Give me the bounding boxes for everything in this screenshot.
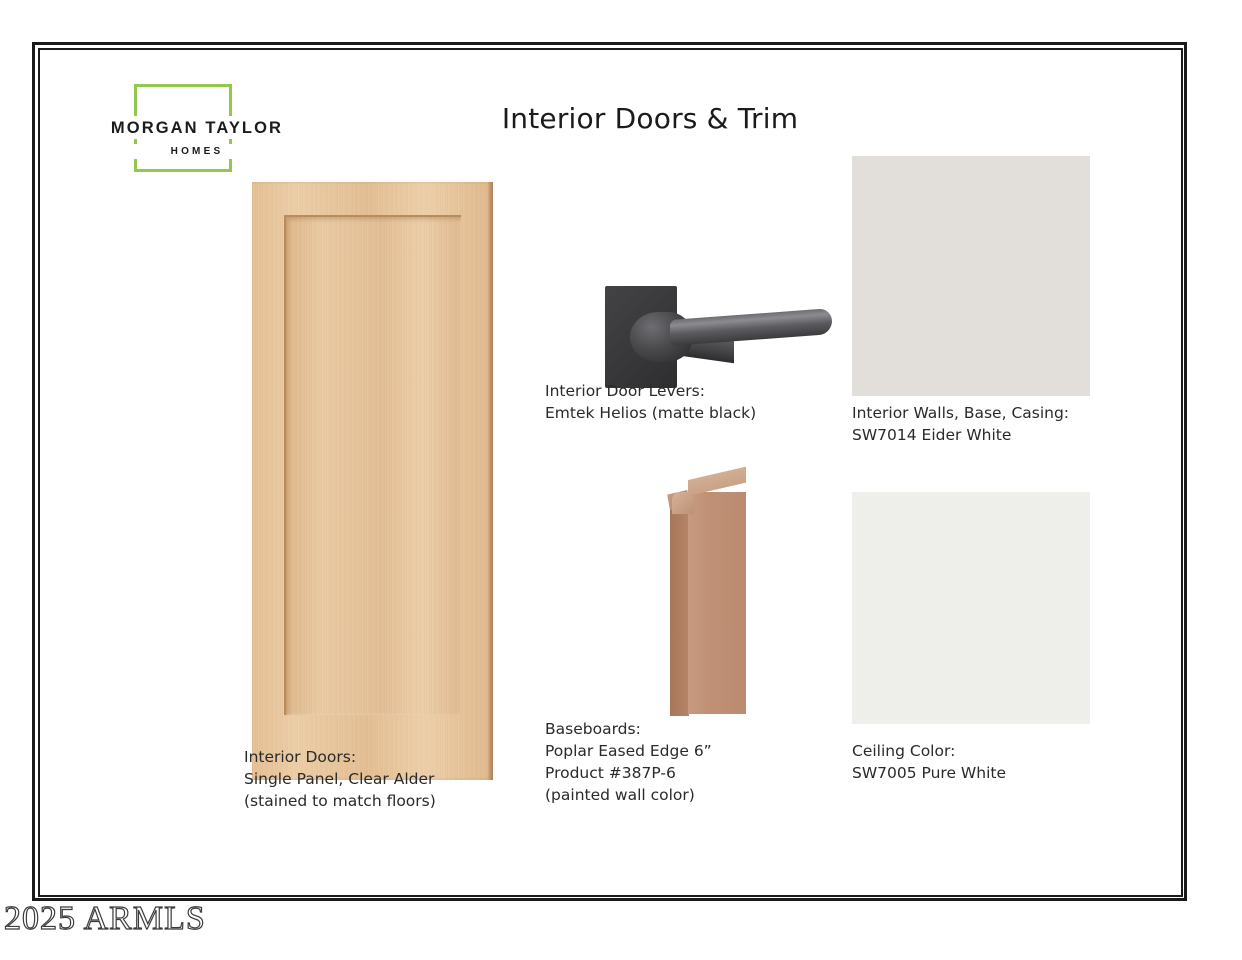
interior-doors-caption: Interior Doors: Single Panel, Clear Alde… — [244, 746, 524, 812]
page-title: Interior Doors & Trim — [370, 102, 930, 135]
logo-wordmark: MORGAN TAYLOR — [102, 116, 292, 139]
baseboard-front-face — [688, 492, 746, 714]
door-levers-caption: Interior Door Levers: Emtek Helios (matt… — [545, 380, 835, 424]
lever-handle-bar — [670, 308, 832, 346]
interior-door-image — [252, 182, 493, 780]
ceiling-color-caption: Ceiling Color: SW7005 Pure White — [852, 740, 1152, 784]
spec-sheet: MORGAN TAYLOR HOMES Interior Doors & Tri… — [40, 50, 1181, 895]
baseboard-image — [652, 468, 772, 728]
watermark-text: 2025 ARMLS — [4, 900, 206, 938]
door-edge — [488, 182, 493, 780]
logo-subtext: HOMES — [102, 144, 292, 159]
ceiling-color-swatch — [852, 492, 1090, 724]
baseboards-caption: Baseboards: Poplar Eased Edge 6” Product… — [545, 718, 845, 806]
interior-walls-caption: Interior Walls, Base, Casing: SW7014 Eid… — [852, 402, 1152, 446]
wall-color-swatch — [852, 156, 1090, 396]
door-panel — [284, 215, 461, 715]
baseboard-side-face — [670, 506, 689, 716]
baseboard-eased-edge — [672, 492, 694, 514]
